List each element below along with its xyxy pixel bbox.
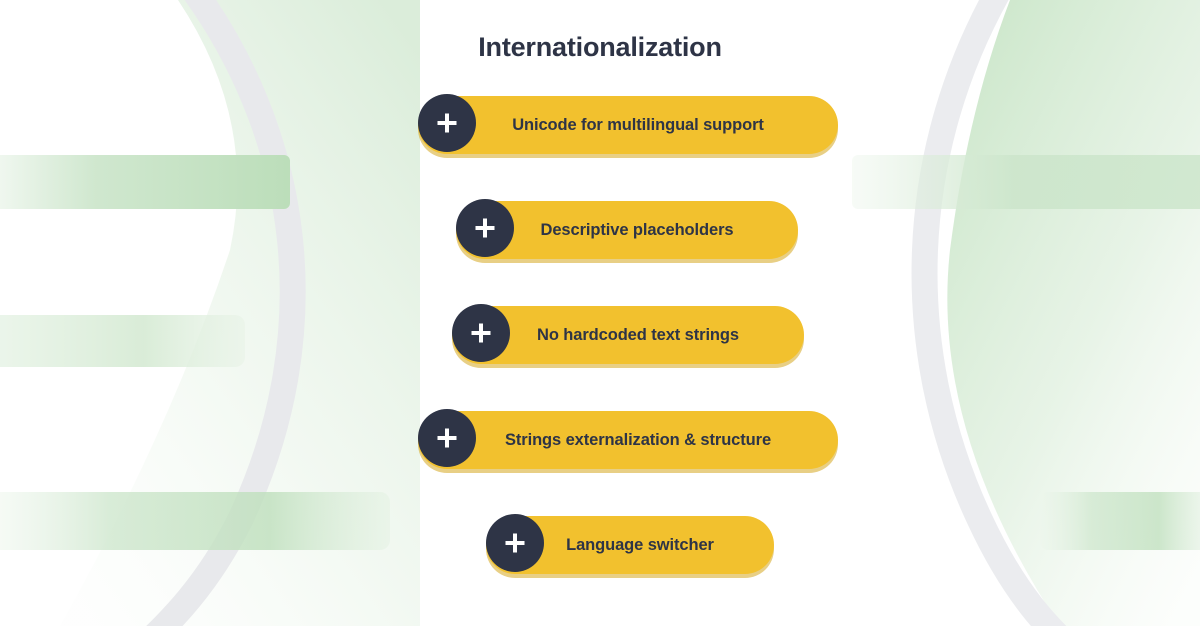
list-item: No hardcoded text strings [0,306,1200,411]
feature-label: Strings externalization & structure [418,431,838,450]
list-item: Strings externalization & structure [0,411,1200,516]
list-item: Language switcher [0,516,1200,621]
feature-pill-4[interactable]: Language switcher [486,516,774,574]
feature-pill-1[interactable]: Descriptive placeholders [456,201,798,259]
list-item: Unicode for multilingual support [0,96,1200,201]
feature-pill-2[interactable]: No hardcoded text strings [452,306,804,364]
feature-list: Unicode for multilingual support Descrip… [0,96,1200,621]
page-title: Internationalization [0,32,1200,63]
slide-canvas: Internationalization Unicode for multili… [0,0,1200,626]
slide-content: Internationalization Unicode for multili… [0,0,1200,626]
plus-icon[interactable] [456,199,514,257]
plus-icon[interactable] [418,409,476,467]
feature-pill-3[interactable]: Strings externalization & structure [418,411,838,469]
plus-icon[interactable] [486,514,544,572]
list-item: Descriptive placeholders [0,201,1200,306]
plus-icon[interactable] [418,94,476,152]
feature-label: Unicode for multilingual support [418,116,838,135]
feature-pill-0[interactable]: Unicode for multilingual support [418,96,838,154]
plus-icon[interactable] [452,304,510,362]
